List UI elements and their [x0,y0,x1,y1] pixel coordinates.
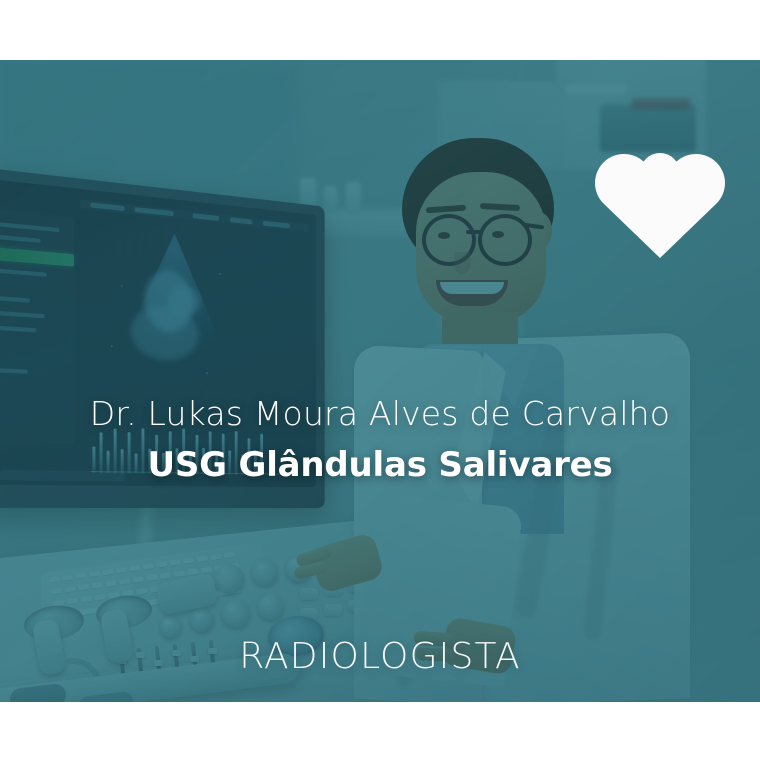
heart-person-logo [590,144,730,264]
specialty-label: RADIOLOGISTA [0,636,760,677]
procedure-title: USG Glândulas Salivares [0,445,760,485]
photo-band: Dr Lukas Moura MÉDICO RADIOLOGISTA [0,60,760,702]
doctor-promo-card: Dr Lukas Moura MÉDICO RADIOLOGISTA [0,0,760,760]
doctor-name: Dr. Lukas Moura Alves de Carvalho [0,394,760,433]
